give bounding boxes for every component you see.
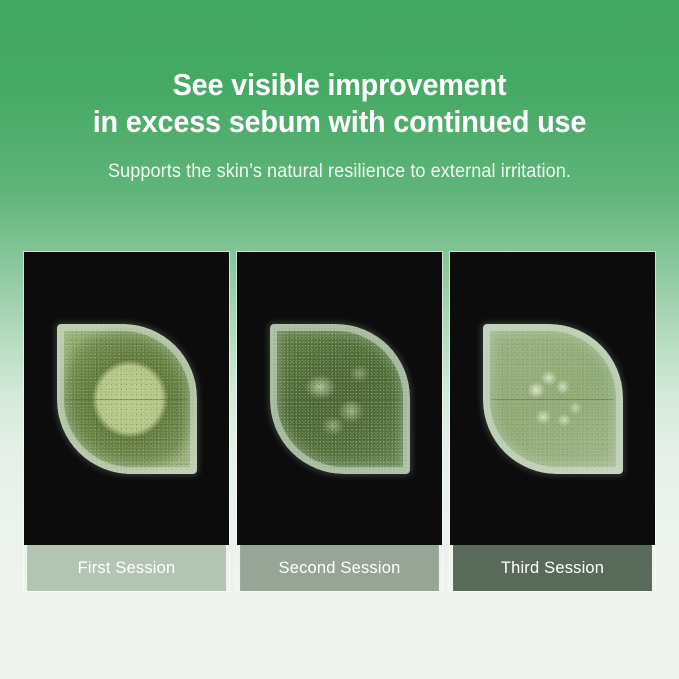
headline-line-1: See visible improvement: [24, 66, 655, 103]
leaf-vein-line: [278, 399, 401, 400]
sebum-patch-image-second: [270, 324, 410, 474]
headline-line-2: in excess sebum with continued use: [24, 103, 655, 140]
session-caption-first: First Session: [27, 545, 226, 591]
session-comparison-gallery: First Session Second Session: [24, 252, 655, 591]
sebum-patch-image-first: [57, 324, 197, 474]
page-title: See visible improvement in excess sebum …: [24, 0, 655, 140]
header: See visible improvement in excess sebum …: [0, 0, 679, 183]
sebum-patch-image-third: [483, 324, 623, 474]
session-panel-first: First Session: [24, 252, 229, 591]
session-caption-label: Third Session: [501, 558, 604, 578]
session-photo-first: [24, 252, 229, 545]
session-photo-third: [450, 252, 655, 545]
session-caption-second: Second Session: [240, 545, 439, 591]
session-panel-third: Third Session: [450, 252, 655, 591]
session-photo-second: [237, 252, 442, 545]
subtitle: Supports the skin’s natural resilience t…: [17, 140, 662, 183]
promo-card: See visible improvement in excess sebum …: [0, 0, 679, 679]
leaf-vein-line: [491, 399, 614, 400]
session-panel-second: Second Session: [237, 252, 442, 591]
leaf-vein-line: [65, 399, 188, 400]
session-caption-label: First Session: [78, 558, 176, 578]
session-caption-third: Third Session: [453, 545, 652, 591]
session-caption-label: Second Session: [279, 558, 401, 578]
